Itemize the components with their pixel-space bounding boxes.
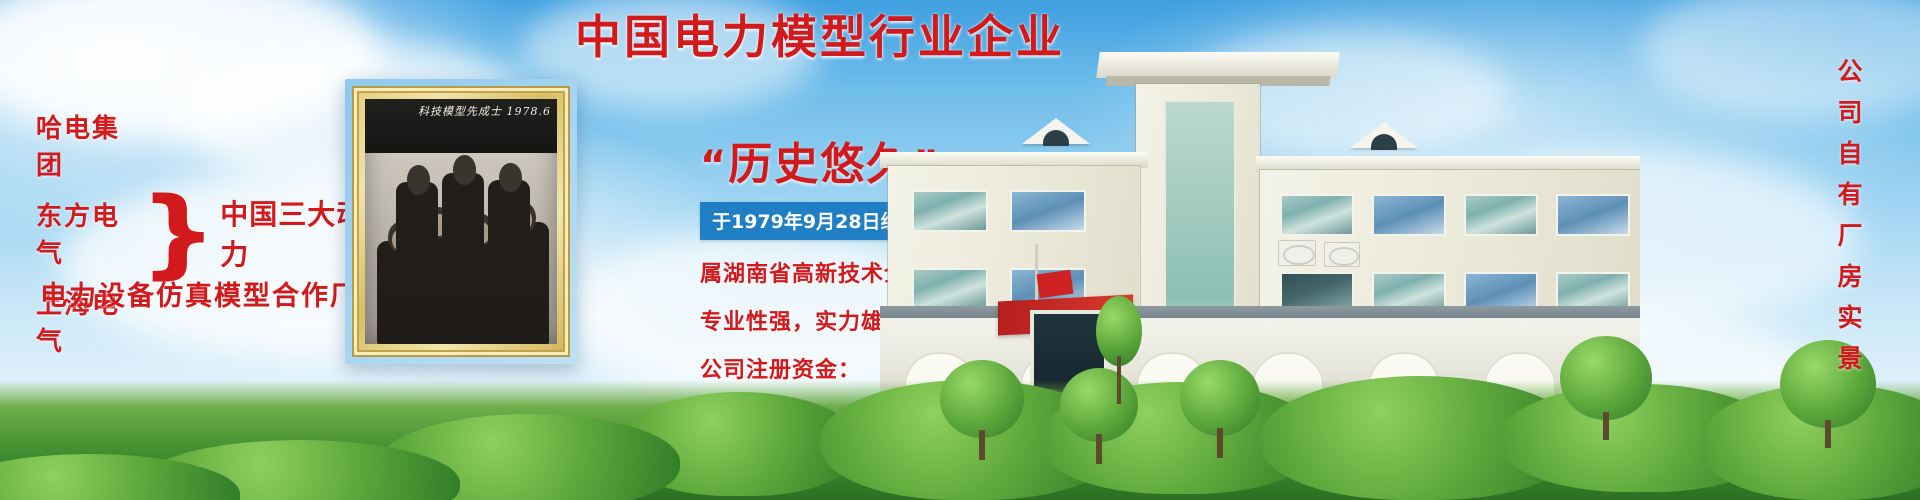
photo-gold-border: 科技模型先成士 1978.6 [352,86,570,357]
company-name-list: 哈电集团 东方电气 上海电气 [36,108,130,358]
tree-trunk [1117,356,1121,404]
historical-group-photo: 科技模型先成士 1978.6 [365,99,557,344]
right-vertical-caption: 公司自有厂房实景 [1830,58,1866,386]
three-powers-row: 哈电集团 东方电气 上海电气 } 中国三大动力 [36,108,366,358]
tree-trunk [979,430,985,460]
photo-tint-overlay [365,99,557,344]
tree [1180,360,1260,454]
tree-trunk [1825,420,1831,448]
left-tagline: 电力设备仿真模型合作厂家 [40,274,388,313]
historical-photo-frame: 科技模型先成士 1978.6 [345,79,577,364]
left-info-block: 哈电集团 东方电气 上海电气 } 中国三大动力 [36,108,366,358]
red-flag [1036,270,1073,298]
company-name-1: 哈电集团 [36,108,130,182]
tree-crown [1180,360,1260,436]
promotional-banner: 中国电力模型行业企业 哈电集团 东方电气 上海电气 } 中国三大动力 电力设备仿… [0,0,1920,500]
cloud-decoration [1640,0,1920,120]
tree-trunk [1217,428,1223,458]
tree-crown [1560,336,1652,420]
tree-crown [940,360,1024,438]
window [912,190,988,232]
air-conditioner-unit [1278,240,1316,266]
quote-open: “ [700,143,728,189]
tree-trunk [1603,412,1609,440]
tower-roof [1096,52,1340,78]
tree [940,360,1024,456]
air-conditioner-unit [1324,242,1360,267]
company-name-2: 东方电气 [36,196,130,270]
window [1464,194,1538,236]
window [1556,194,1630,236]
window [1010,190,1086,232]
window [1372,194,1446,236]
flag-pole [1035,244,1038,300]
tree [1096,296,1142,404]
tree [1560,336,1652,440]
tree-trunk [1096,434,1102,464]
window [912,268,988,310]
window [1280,194,1354,236]
